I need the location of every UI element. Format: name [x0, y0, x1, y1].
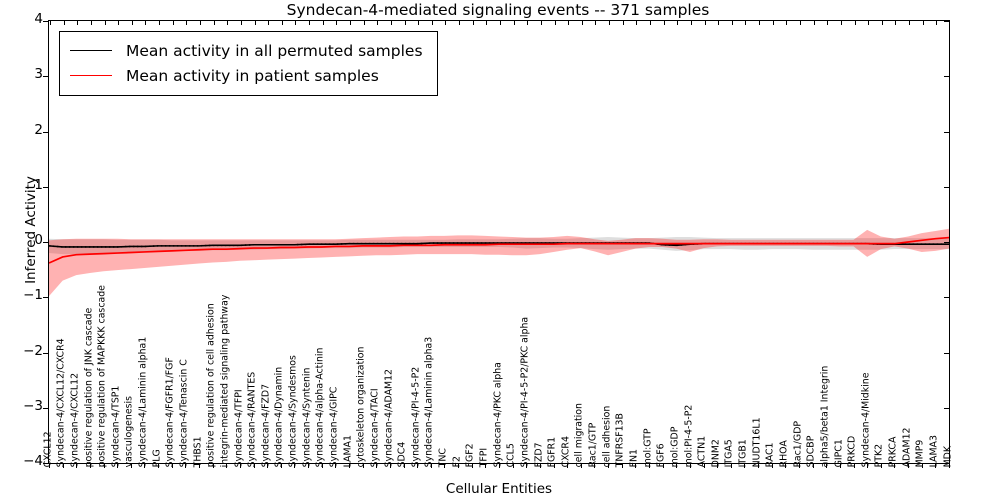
x-tick-label: ADAM12 — [902, 427, 911, 467]
y-tick-mark-right — [944, 187, 949, 188]
y-tick-label: 4 — [3, 13, 43, 27]
x-tick-label: Syndecan-4/TACI — [370, 388, 379, 467]
x-tick-mark-top — [895, 21, 896, 25]
y-tick-label: 3 — [3, 68, 43, 82]
x-tick-mark-top — [473, 21, 474, 25]
x-tick-label: Syndecan-4/Tenascin C — [180, 359, 189, 467]
y-tick-mark-right — [944, 353, 949, 354]
x-tick-label: Syndecan-4/Laminin alpha3 — [425, 336, 434, 467]
x-tick-label: CXCL12 — [43, 431, 52, 467]
x-tick-label: FZD7 — [534, 442, 543, 467]
x-tick-label: Syndecan-4/GIPC — [330, 386, 339, 467]
x-tick-mark-top — [636, 21, 637, 25]
y-tick-mark-right — [944, 76, 949, 77]
x-tick-mark-top — [91, 21, 92, 25]
x-tick-mark-top — [745, 21, 746, 25]
x-tick-mark-top — [377, 21, 378, 25]
x-tick-mark-top — [255, 21, 256, 25]
x-tick-mark-top — [405, 21, 406, 25]
x-tick-mark-top — [882, 21, 883, 25]
y-axis-ticks: 43210−1−2−3−4 — [0, 20, 43, 464]
x-tick-label: Syndecan-4/Syntenin — [302, 367, 311, 467]
x-tick-label: Syndecan-4/ADAM12 — [384, 369, 393, 467]
x-tick-mark-top — [827, 21, 828, 25]
x-tick-label: Syndecan-4/Syndesmos — [289, 355, 298, 467]
x-tick-mark-top — [173, 21, 174, 25]
legend-item-permuted: Mean activity in all permuted samples — [70, 38, 423, 63]
x-tick-label: ITGA5 — [725, 439, 734, 467]
y-tick-mark-right — [944, 132, 949, 133]
x-tick-mark-top — [705, 21, 706, 25]
legend-label-permuted: Mean activity in all permuted samples — [126, 42, 423, 60]
x-tick-label: NUDT16L1 — [752, 417, 761, 467]
x-tick-label: Syndecan-4/CXCL12/CXCR4 — [57, 338, 66, 467]
x-tick-label: ITGB1 — [739, 439, 748, 467]
x-tick-mark-top — [527, 21, 528, 25]
x-tick-label: SDCBP — [807, 435, 816, 467]
x-tick-label: MMP9 — [916, 439, 925, 467]
x-tick-mark-top — [868, 21, 869, 25]
x-tick-mark-top — [145, 21, 146, 25]
x-tick-label: LAMA1 — [343, 435, 352, 467]
x-tick-mark-top — [50, 21, 51, 25]
x-tick-mark-top — [677, 21, 678, 25]
x-tick-mark-top — [159, 21, 160, 25]
x-tick-label: integrin-mediated signaling pathway — [220, 294, 229, 467]
x-tick-label: RHOA — [780, 440, 789, 467]
x-tick-label: Syndecan-4/Midkine — [861, 372, 870, 467]
x-tick-label: Syndecan-4/FZD7 — [261, 383, 270, 467]
x-tick-mark-top — [500, 21, 501, 25]
x-tick-label: F2 — [452, 456, 461, 467]
x-tick-mark-top — [350, 21, 351, 25]
x-tick-label: PRKCA — [889, 436, 898, 467]
x-tick-mark-top — [295, 21, 296, 25]
x-tick-mark-top — [105, 21, 106, 25]
x-tick-mark-top — [64, 21, 65, 25]
x-tick-label: FN1 — [630, 449, 639, 467]
y-tick-label: −4 — [3, 455, 43, 469]
x-tick-mark-top — [486, 21, 487, 25]
x-tick-mark-top — [841, 21, 842, 25]
x-tick-label: alpha5/beta1 Integrin — [820, 365, 829, 467]
x-tick-mark-top — [568, 21, 569, 25]
x-tick-label: TNC — [439, 448, 448, 467]
x-tick-label: TFPI — [480, 447, 489, 467]
x-tick-label: THBS1 — [193, 436, 202, 467]
x-tick-mark-top — [200, 21, 201, 25]
x-tick-label: positive regulation of JNK cascade — [84, 307, 93, 467]
x-tick-label: mol:GTP — [643, 428, 652, 467]
x-tick-mark-top — [541, 21, 542, 25]
y-tick-label: −1 — [3, 289, 43, 303]
y-tick-mark-right — [944, 242, 949, 243]
y-tick-mark-right — [944, 408, 949, 409]
x-tick-mark-top — [432, 21, 433, 25]
x-tick-label: PRKCD — [848, 435, 857, 467]
x-tick-mark-top — [855, 21, 856, 25]
x-tick-mark-top — [186, 21, 187, 25]
x-tick-label: Syndecan-4/Laminin alpha1 — [139, 336, 148, 467]
figure-canvas: Syndecan-4-mediated signaling events -- … — [0, 0, 1000, 500]
x-tick-mark-top — [118, 21, 119, 25]
x-tick-label: DNM2 — [711, 439, 720, 467]
x-tick-label: Syndecan-4/Dynamin — [275, 366, 284, 467]
x-tick-label: positive regulation of MAPKKK cascade — [98, 285, 107, 467]
x-tick-label: cell migration — [575, 403, 584, 467]
x-tick-label: Syndecan-4/FGFR1/FGF — [166, 357, 175, 467]
x-tick-mark-top — [650, 21, 651, 25]
x-tick-mark-top — [323, 21, 324, 25]
x-tick-mark-top — [664, 21, 665, 25]
x-tick-label: vasculogenesis — [125, 396, 134, 467]
y-tick-label: −2 — [3, 345, 43, 359]
x-tick-mark-top — [418, 21, 419, 25]
x-tick-mark-top — [391, 21, 392, 25]
x-tick-mark-top — [132, 21, 133, 25]
x-tick-label: mol:GDP — [670, 426, 679, 467]
x-tick-mark-top — [909, 21, 910, 25]
x-tick-mark-top — [800, 21, 801, 25]
x-tick-label: cytoskeleton organization — [357, 346, 366, 467]
x-tick-mark-top — [595, 21, 596, 25]
x-tick-label: MDK — [943, 446, 952, 467]
x-tick-mark-top — [759, 21, 760, 25]
y-tick-mark-right — [944, 297, 949, 298]
y-tick-mark-right — [944, 21, 949, 22]
x-tick-mark-top — [718, 21, 719, 25]
x-tick-mark-top — [609, 21, 610, 25]
x-tick-mark-top — [309, 21, 310, 25]
x-tick-mark-top — [732, 21, 733, 25]
legend-line-swatch-red — [70, 75, 112, 76]
x-tick-mark-top — [268, 21, 269, 25]
y-tick-label: 0 — [3, 234, 43, 248]
x-tick-mark-top — [336, 21, 337, 25]
x-tick-mark-top — [282, 21, 283, 25]
x-tick-label: Syndecan-4/CXCL12 — [70, 373, 79, 468]
x-tick-label: CXCR4 — [561, 436, 570, 467]
x-tick-mark-top — [459, 21, 460, 25]
y-tick-label: −3 — [3, 400, 43, 414]
x-tick-mark-top — [691, 21, 692, 25]
x-tick-label: LAMA3 — [930, 435, 939, 467]
x-tick-mark-top — [214, 21, 215, 25]
x-tick-label: TNFRSF13B — [616, 413, 625, 467]
x-tick-mark-top — [773, 21, 774, 25]
y-tick-label: 1 — [3, 179, 43, 193]
x-tick-label: Syndecan-4/PI-4-5-P2 — [411, 366, 420, 467]
x-tick-label: Rac1/GTP — [589, 422, 598, 467]
x-tick-label: PTK2 — [875, 444, 884, 468]
legend-line-swatch-black — [70, 50, 112, 51]
x-tick-mark-top — [786, 21, 787, 25]
x-tick-label: SDC4 — [398, 441, 407, 467]
x-tick-mark-top — [241, 21, 242, 25]
x-tick-label: positive regulation of cell adhesion — [207, 303, 216, 467]
x-tick-mark-top — [582, 21, 583, 25]
chart-title: Syndecan-4-mediated signaling events -- … — [48, 1, 948, 19]
x-tick-mark-top — [623, 21, 624, 25]
x-tick-mark-top — [364, 21, 365, 25]
x-tick-label: Rac1/GDP — [793, 421, 802, 467]
x-tick-label: GIPC1 — [834, 439, 843, 467]
x-tick-label: Syndecan-4/PKC alpha — [493, 362, 502, 467]
x-tick-mark-top — [445, 21, 446, 25]
x-tick-mark-top — [227, 21, 228, 25]
x-tick-mark-top — [923, 21, 924, 25]
chart-legend: Mean activity in all permuted samples Me… — [59, 31, 438, 96]
x-tick-label: Syndecan-4/alpha-Actinin — [316, 347, 325, 467]
x-tick-label: PLG — [152, 449, 161, 467]
x-axis-label: Cellular Entities — [48, 481, 950, 497]
x-tick-label: cell adhesion — [602, 405, 611, 467]
x-tick-label: mol:PI-4-5-P2 — [684, 404, 693, 467]
x-tick-label: Syndecan-4/RANTES — [248, 371, 257, 467]
x-tick-label: Syndecan-4/TFPI — [234, 389, 243, 467]
x-tick-label: FGF6 — [657, 443, 666, 467]
legend-item-patient: Mean activity in patient samples — [70, 63, 423, 88]
y-tick-label: 2 — [3, 124, 43, 138]
legend-label-patient: Mean activity in patient samples — [126, 67, 379, 85]
x-tick-label: FGF2 — [466, 443, 475, 467]
x-tick-mark-top — [77, 21, 78, 25]
x-tick-label: Syndecan-4/PI-4-5-P2/PKC alpha — [520, 316, 529, 467]
x-tick-label: ACTN1 — [698, 436, 707, 468]
x-tick-label: RAC1 — [766, 442, 775, 467]
x-tick-mark-top — [514, 21, 515, 25]
x-tick-mark-top — [936, 21, 937, 25]
x-tick-mark-top — [814, 21, 815, 25]
x-tick-mark-top — [555, 21, 556, 25]
x-tick-label: FGFR1 — [548, 436, 557, 467]
x-tick-label: CCL5 — [507, 443, 516, 467]
x-tick-label: Syndecan-4/TSP1 — [111, 385, 120, 467]
